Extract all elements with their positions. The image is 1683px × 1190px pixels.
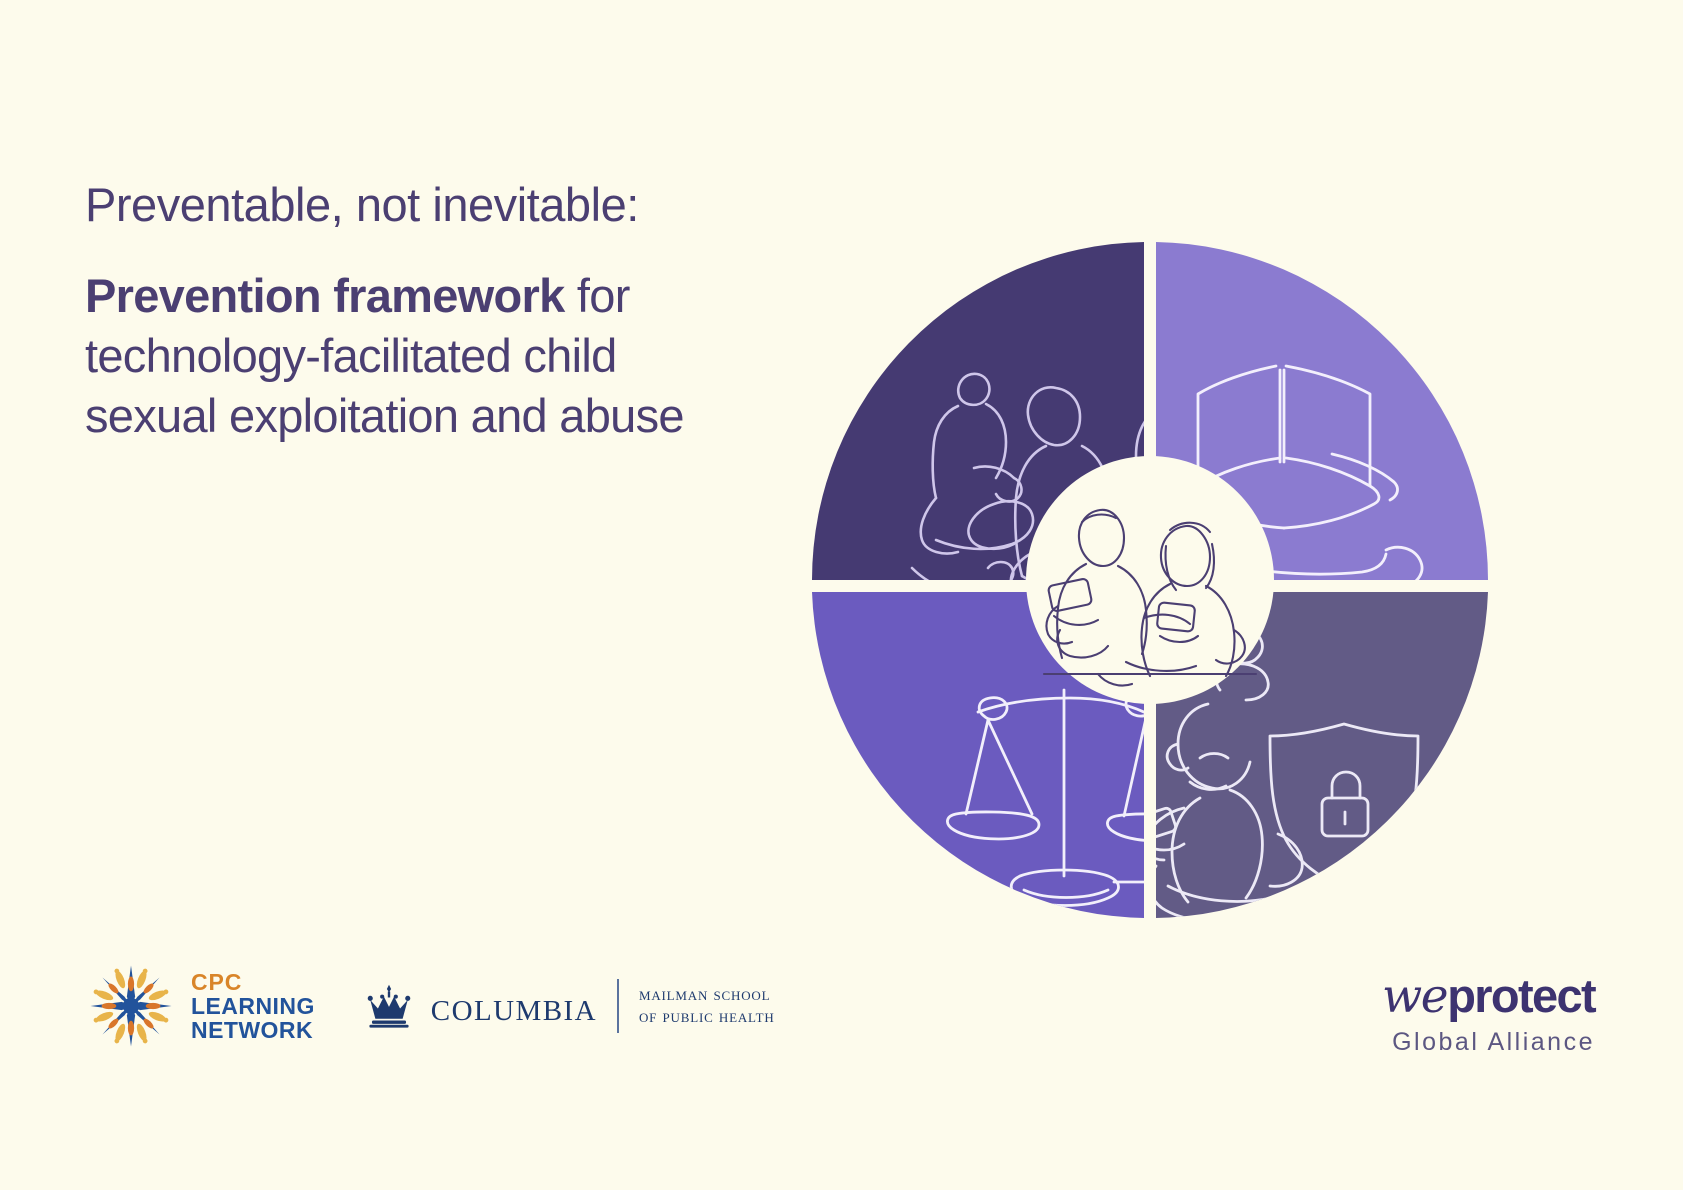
prevention-framework-wheel [808,238,1492,922]
partner-logos: CPC LEARNING NETWORK Col [85,960,775,1052]
cpc-line-network: NETWORK [191,1019,315,1043]
title-block: Preventable, not inevitable: Prevention … [85,178,825,447]
crown-icon [363,983,415,1029]
cpc-line-learning: LEARNING [191,995,315,1019]
cpc-learning-network-logo[interactable]: CPC LEARNING NETWORK [85,960,315,1052]
page-title: Prevention framework fortechnology-facil… [85,266,825,446]
wheel-center[interactable] [1026,456,1274,704]
title-line3: sexual exploitation and abuse [85,389,684,442]
title-eyebrow: Preventable, not inevitable: [85,178,825,232]
columbia-mailman-logo[interactable]: Columbia Mailman School of Public Health [363,979,775,1033]
mailman-line1: Mailman School [639,984,775,1006]
weprotect-wordmark: weprotect [1382,972,1595,1020]
mailman-school-wordmark: Mailman School of Public Health [639,984,775,1028]
footer-logos: CPC LEARNING NETWORK Col [0,950,1683,1100]
title-strong: Prevention framework [85,269,565,322]
weprotect-tagline: Global Alliance [1382,1028,1595,1057]
mailman-line2: of Public Health [639,1006,775,1028]
cpc-wordmark: CPC LEARNING NETWORK [191,969,315,1043]
weprotect-we: we [1382,969,1447,1024]
logo-divider [617,979,619,1033]
columbia-wordmark: Columbia [431,986,597,1027]
weprotect-protect: protect [1447,969,1595,1022]
title-line1-rest: for [565,269,630,322]
poster-page: { "page": { "background_color": "#fdfbec… [0,0,1683,1190]
weprotect-global-alliance-logo[interactable]: weprotect Global Alliance [1382,972,1595,1057]
starburst-icon [85,960,177,1052]
title-line2: technology-facilitated child [85,329,617,382]
cpc-abbr: CPC [191,971,315,995]
